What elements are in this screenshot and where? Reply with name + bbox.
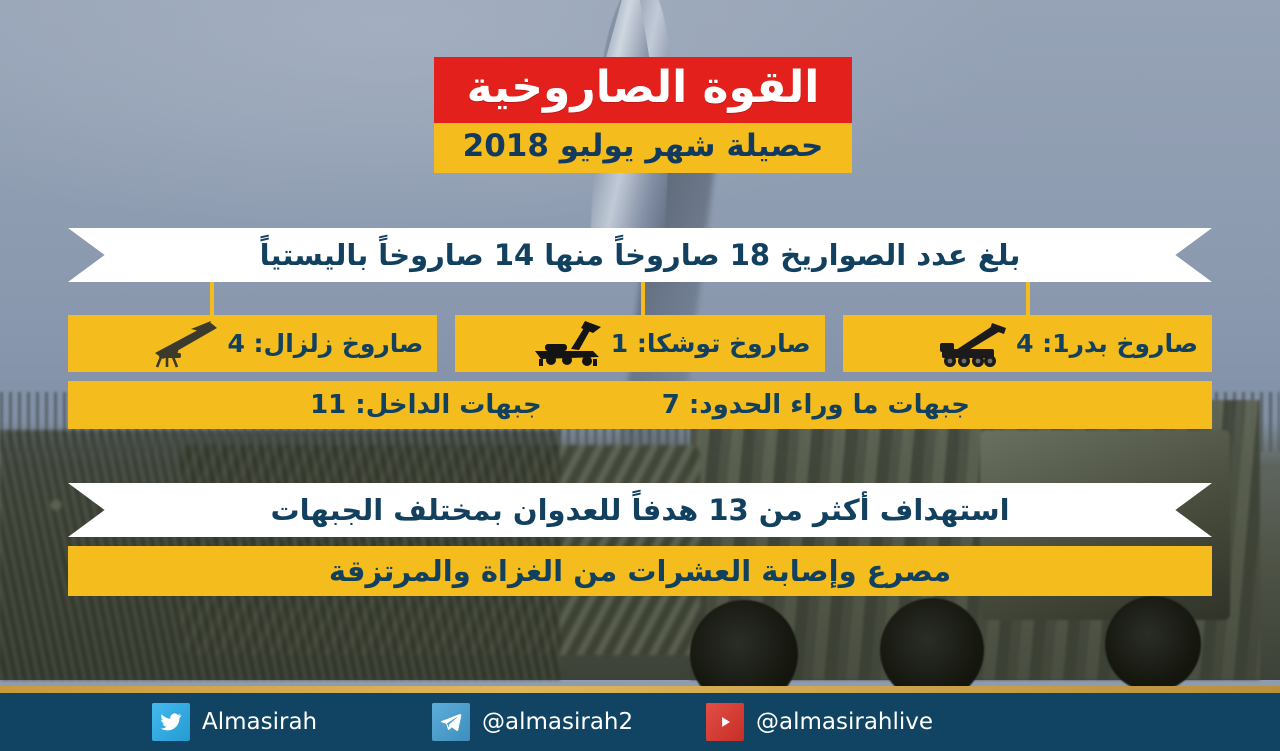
stat-label-zelzal: صاروخ زلزال: 4 [227, 331, 423, 356]
page-subtitle: حصيلة شهر يوليو 2018 [434, 123, 852, 173]
fronts-bar: جبهات ما وراء الحدود: 7 جبهات الداخل: 11 [68, 381, 1212, 429]
stat-label-tochka: صاروخ توشكا: 1 [611, 331, 811, 356]
casualties-bar: مصرع وإصابة العشرات من الغزاة والمرتزقة [68, 546, 1212, 596]
missile-stats-row: صاروخ بدر1: 4 [68, 315, 1212, 372]
social-footer: Almasirah @almasirah2 @almasirahlive [0, 693, 1280, 751]
casualties-text: مصرع وإصابة العشرات من الغزاة والمرتزقة [329, 557, 951, 586]
page-title: القوة الصاروخية [434, 57, 852, 123]
social-youtube[interactable]: @almasirahlive [706, 703, 933, 741]
fronts-internal-label: جبهات الداخل: 11 [310, 392, 542, 418]
launcher-truck-icon [936, 319, 1010, 369]
fronts-cross-border-label: جبهات ما وراء الحدود: 7 [662, 392, 970, 418]
connector-tick [1026, 282, 1030, 315]
gold-divider [0, 686, 1280, 693]
telegram-icon [432, 703, 470, 741]
summary-banner-text: بلغ عدد الصواريخ 18 صاروخاً منها 14 صارو… [208, 241, 1073, 270]
social-telegram[interactable]: @almasirah2 [432, 703, 633, 741]
connector-tick [641, 282, 645, 315]
stat-box-tochka[interactable]: صاروخ توشكا: 1 [455, 315, 824, 372]
twitter-icon [152, 703, 190, 741]
youtube-handle: @almasirahlive [756, 711, 933, 734]
zelzal-missile-icon [147, 319, 221, 369]
title-block: القوة الصاروخية حصيلة شهر يوليو 2018 [434, 57, 852, 173]
truck-wheel [1105, 596, 1201, 692]
telegram-handle: @almasirah2 [482, 711, 633, 734]
twitter-handle: Almasirah [202, 711, 317, 734]
tochka-launcher-icon [531, 319, 605, 369]
targets-banner-text: استهداف أكثر من 13 هدفاً للعدوان بمختلف … [218, 496, 1061, 525]
youtube-icon [706, 703, 744, 741]
summary-banner: بلغ عدد الصواريخ 18 صاروخاً منها 14 صارو… [68, 228, 1212, 282]
connector-tick [210, 282, 214, 315]
targets-banner: استهداف أكثر من 13 هدفاً للعدوان بمختلف … [68, 483, 1212, 537]
social-twitter[interactable]: Almasirah [152, 703, 317, 741]
stat-box-badr[interactable]: صاروخ بدر1: 4 [843, 315, 1212, 372]
infographic-canvas: القوة الصاروخية حصيلة شهر يوليو 2018 بلغ… [0, 0, 1280, 751]
stat-label-badr: صاروخ بدر1: 4 [1016, 331, 1198, 356]
stat-box-zelzal[interactable]: صاروخ زلزال: 4 [68, 315, 437, 372]
